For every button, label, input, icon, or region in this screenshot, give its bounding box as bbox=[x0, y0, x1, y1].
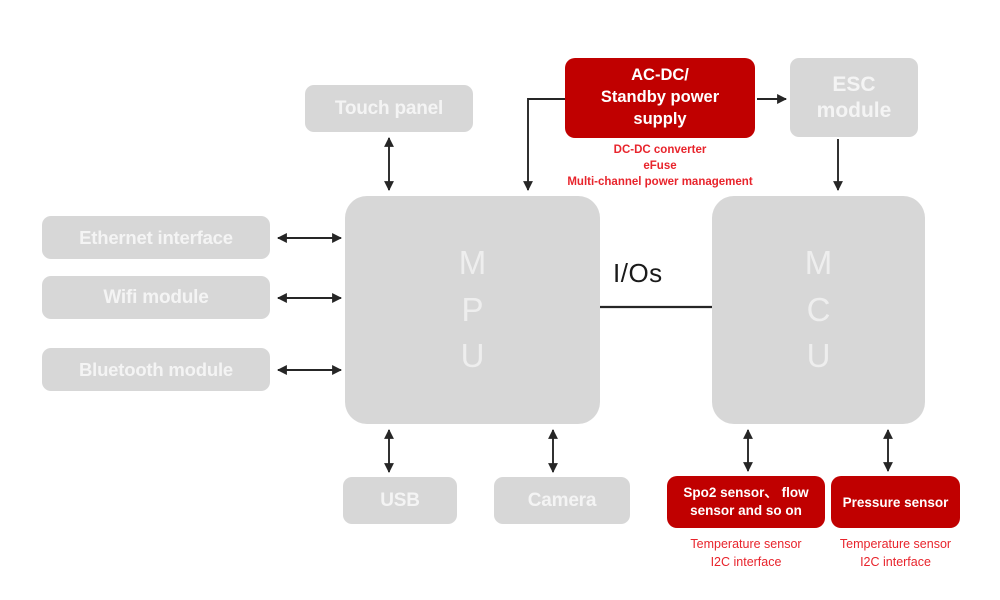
block-touch-panel-label: Touch panel bbox=[335, 98, 443, 120]
block-mcu[interactable]: M C U bbox=[712, 196, 925, 424]
block-power-supply-line-1: AC-DC/ bbox=[631, 65, 689, 87]
annotation-spo2-sensor-line-1: Temperature sensor bbox=[660, 535, 832, 553]
block-power-supply-line-3: supply bbox=[633, 109, 686, 131]
block-wifi-module-label: Wifi module bbox=[103, 287, 208, 309]
block-bluetooth-module-label: Bluetooth module bbox=[79, 359, 233, 381]
block-camera-label: Camera bbox=[528, 490, 597, 512]
block-mpu-letter-3: U bbox=[461, 333, 485, 380]
block-bluetooth-module[interactable]: Bluetooth module bbox=[42, 348, 270, 391]
block-esc-module[interactable]: ESC module bbox=[790, 58, 918, 137]
block-diagram-canvas: Touch panel Ethernet interface Wifi modu… bbox=[0, 0, 1000, 600]
annotation-power-supply: DC-DC converter eFuse Multi-channel powe… bbox=[540, 143, 780, 191]
annotation-pressure-sensor-line-2: I2C interface bbox=[826, 553, 965, 571]
block-usb-label: USB bbox=[380, 490, 420, 512]
block-power-supply-line-2: Standby power bbox=[601, 87, 719, 109]
block-pressure-sensor[interactable]: Pressure sensor bbox=[831, 476, 960, 528]
block-spo2-sensor[interactable]: Spo2 sensor、 flow sensor and so on bbox=[667, 476, 825, 528]
block-mcu-letter-2: C bbox=[807, 287, 831, 334]
block-wifi-module[interactable]: Wifi module bbox=[42, 276, 270, 319]
block-mpu[interactable]: M P U bbox=[345, 196, 600, 424]
block-ethernet-interface-label: Ethernet interface bbox=[79, 227, 233, 249]
annotation-power-supply-line-3: Multi-channel power management bbox=[540, 175, 780, 191]
bus-label-ios: I/Os bbox=[613, 258, 663, 289]
block-esc-module-line-1: ESC bbox=[832, 72, 875, 97]
annotation-spo2-sensor-line-2: I2C interface bbox=[660, 553, 832, 571]
block-power-supply[interactable]: AC-DC/ Standby power supply bbox=[565, 58, 755, 138]
block-mpu-letter-2: P bbox=[461, 287, 483, 334]
annotation-spo2-sensor: Temperature sensor I2C interface bbox=[660, 535, 832, 571]
block-pressure-sensor-label: Pressure sensor bbox=[843, 495, 949, 510]
block-spo2-sensor-line-1: Spo2 sensor、 flow bbox=[683, 484, 808, 502]
annotation-pressure-sensor-line-1: Temperature sensor bbox=[826, 535, 965, 553]
block-camera[interactable]: Camera bbox=[494, 477, 630, 524]
annotation-power-supply-line-2: eFuse bbox=[540, 159, 780, 175]
annotation-power-supply-line-1: DC-DC converter bbox=[540, 143, 780, 159]
block-usb[interactable]: USB bbox=[343, 477, 457, 524]
block-mcu-letter-3: U bbox=[807, 333, 831, 380]
annotation-pressure-sensor: Temperature sensor I2C interface bbox=[826, 535, 965, 571]
block-mpu-letter-1: M bbox=[459, 240, 487, 287]
block-touch-panel[interactable]: Touch panel bbox=[305, 85, 473, 132]
block-esc-module-line-2: module bbox=[817, 98, 892, 123]
block-ethernet-interface[interactable]: Ethernet interface bbox=[42, 216, 270, 259]
block-mcu-letter-1: M bbox=[805, 240, 833, 287]
block-spo2-sensor-line-2: sensor and so on bbox=[690, 502, 802, 520]
